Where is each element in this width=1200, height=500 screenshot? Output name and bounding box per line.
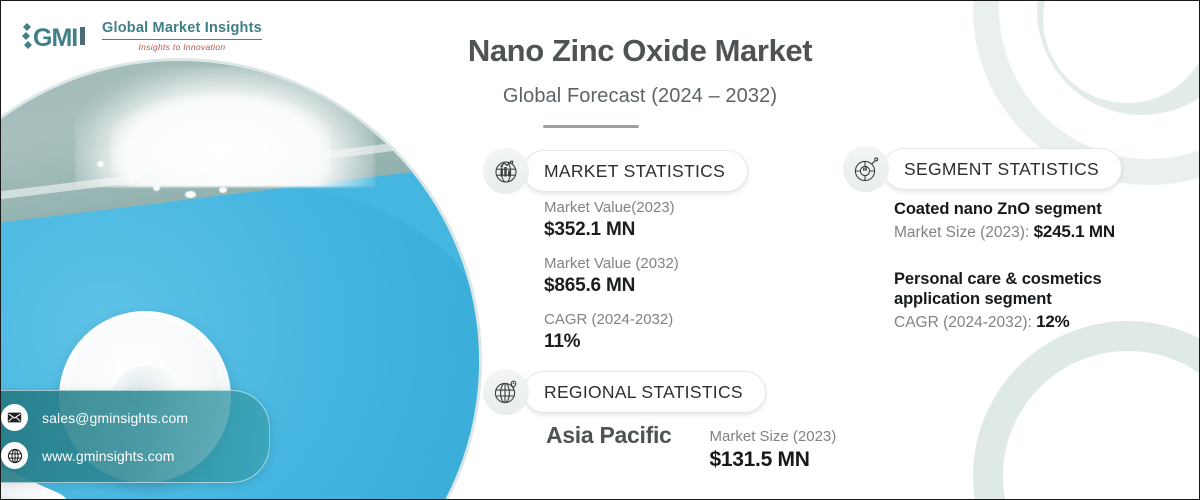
decorative-circle-white-bottom [1123, 425, 1200, 500]
segment-1-metric-value: $245.1 MN [1034, 222, 1115, 241]
contact-website: www.gminsights.com [42, 448, 175, 464]
powder-crumb [185, 191, 196, 198]
svg-text:GMI: GMI [33, 24, 77, 52]
powder-heap-highlight [111, 95, 331, 175]
segment-statistics-body: Coated nano ZnO segment Market Size (202… [894, 199, 1190, 333]
segment-2-title: Personal care & cosmetics application se… [894, 269, 1190, 309]
page-subtitle: Global Forecast (2024 – 2032) [456, 85, 824, 108]
region-metric-label: Market Size (2023) [710, 428, 837, 445]
infographic-canvas: GMI Global Market Insights Insights to I… [0, 0, 1200, 500]
brand-name: Global Market Insights [102, 21, 262, 36]
segment-2-metric-value: 12% [1036, 312, 1069, 331]
title-divider [543, 125, 639, 128]
powder-crumb [153, 185, 160, 191]
contact-card: sales@gminsights.com www.gminsights.com [0, 390, 270, 483]
market-value-2023-label: Market Value(2023) [544, 199, 844, 216]
contact-email: sales@gminsights.com [42, 410, 188, 426]
regional-statistics-body: Asia Pacific Market Size (2023) $131.5 M… [546, 423, 836, 472]
contact-website-row[interactable]: www.gminsights.com [1, 442, 269, 469]
page-title: Nano Zinc Oxide Market [456, 33, 824, 69]
region-name: Asia Pacific [546, 423, 672, 448]
regional-statistics-label: REGIONAL STATISTICS [523, 371, 766, 413]
market-statistics-pill[interactable]: MARKET STATISTICS [483, 148, 748, 194]
brand-tagline: Insights to Innovation [102, 43, 262, 52]
market-cagr-value: 11% [544, 331, 844, 353]
powder-crumb [251, 179, 260, 185]
segment-statistics-label: SEGMENT STATISTICS [883, 148, 1122, 190]
decorative-ring-bottom-right [973, 321, 1200, 500]
market-statistics-label: MARKET STATISTICS [523, 150, 748, 192]
globe-icon [1, 442, 28, 469]
market-value-2023-value: $352.1 MN [544, 219, 844, 241]
globe-pin-icon [483, 369, 529, 415]
brand-divider [102, 39, 262, 40]
market-value-2032-value: $865.6 MN [544, 275, 844, 297]
contact-email-row[interactable]: sales@gminsights.com [1, 404, 269, 431]
gmi-diamond-logo-icon: GMI [19, 19, 93, 53]
segment-2-metric-label: CAGR (2024-2032): [894, 314, 1036, 331]
segment-1-metric-label: Market Size (2023): [894, 224, 1034, 241]
market-statistics-body: Market Value(2023) $352.1 MN Market Valu… [544, 199, 844, 353]
envelope-icon [1, 404, 28, 431]
region-metric-value: $131.5 MN [710, 448, 837, 472]
region-metric: Market Size (2023) $131.5 MN [710, 423, 837, 472]
regional-statistics-pill[interactable]: REGIONAL STATISTICS [483, 369, 766, 415]
powder-crumb [219, 187, 227, 193]
title-block: Nano Zinc Oxide Market Global Forecast (… [456, 33, 1116, 128]
donut-chart-target-icon [843, 146, 889, 192]
powder-crumb [97, 161, 104, 167]
market-value-2032-label: Market Value (2032) [544, 255, 844, 272]
market-cagr-label: CAGR (2024-2032) [544, 311, 844, 328]
globe-bar-chart-icon [483, 148, 529, 194]
brand-logo[interactable]: GMI Global Market Insights Insights to I… [19, 19, 262, 53]
segment-1-title: Coated nano ZnO segment [894, 199, 1190, 219]
brand-logo-text: Global Market Insights Insights to Innov… [102, 21, 262, 52]
segment-2-metric: CAGR (2024-2032): 12% [894, 312, 1190, 333]
segment-1-metric: Market Size (2023): $245.1 MN [894, 222, 1190, 243]
segment-statistics-pill[interactable]: SEGMENT STATISTICS [843, 146, 1122, 192]
powder-crumb [129, 173, 138, 180]
